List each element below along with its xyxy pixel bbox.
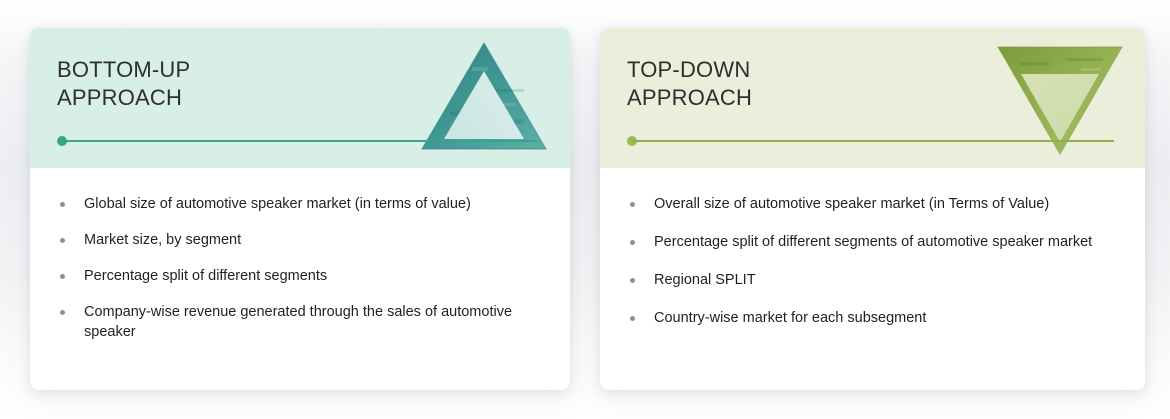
bullet-dot-icon bbox=[630, 316, 635, 321]
list-item: Market size, by segment bbox=[56, 230, 544, 250]
list-item-label: Percentage split of different segments o… bbox=[654, 234, 1092, 250]
list-item: Global size of automotive speaker market… bbox=[56, 194, 544, 214]
page-title-bottom-up: BOTTOM-UP APPROACH bbox=[57, 56, 190, 112]
bullet-dot-icon bbox=[60, 202, 65, 207]
card-bottom-up-approach: BOTTOM-UP APPROACH bbox=[30, 28, 570, 390]
bullet-dot-icon bbox=[630, 240, 635, 245]
list-item: Company-wise revenue generated through t… bbox=[56, 302, 544, 342]
card-header-top-down: TOP-DOWN APPROACH bbox=[600, 28, 1145, 168]
accent-line bbox=[62, 140, 537, 142]
list-item-label: Country-wise market for each subsegment bbox=[654, 310, 926, 326]
page-title-top-down: TOP-DOWN APPROACH bbox=[627, 56, 752, 112]
list-item-label: Global size of automotive speaker market… bbox=[84, 196, 471, 212]
page-background: BOTTOM-UP APPROACH bbox=[0, 0, 1170, 419]
bullet-list-bottom-up: Global size of automotive speaker market… bbox=[56, 194, 544, 342]
list-item: Overall size of automotive speaker marke… bbox=[626, 194, 1119, 214]
list-item: Percentage split of different segments bbox=[56, 266, 544, 286]
list-item: Percentage split of different segments o… bbox=[626, 232, 1119, 252]
bullet-dot-icon bbox=[60, 238, 65, 243]
list-item-label: Regional SPLIT bbox=[654, 272, 756, 288]
bullet-dot-icon bbox=[630, 202, 635, 207]
list-item-label: Overall size of automotive speaker marke… bbox=[654, 196, 1049, 212]
bullet-dot-icon bbox=[60, 274, 65, 279]
card-header-bottom-up: BOTTOM-UP APPROACH bbox=[30, 28, 570, 168]
list-item-label: Market size, by segment bbox=[84, 232, 241, 248]
triangle-up-icon bbox=[420, 41, 548, 151]
list-item: Country-wise market for each subsegment bbox=[626, 308, 1119, 328]
list-item: Regional SPLIT bbox=[626, 270, 1119, 290]
list-item-label: Company-wise revenue generated through t… bbox=[84, 304, 512, 340]
list-item-label: Percentage split of different segments bbox=[84, 268, 327, 284]
bullet-dot-icon bbox=[630, 278, 635, 283]
accent-rule-bottom-up bbox=[57, 136, 537, 146]
card-body-bottom-up: Global size of automotive speaker market… bbox=[30, 168, 570, 342]
accent-line bbox=[632, 140, 1114, 142]
accent-rule-top-down bbox=[627, 136, 1114, 146]
card-top-down-approach: TOP-DOWN APPROACH bbox=[600, 28, 1145, 390]
card-body-top-down: Overall size of automotive speaker marke… bbox=[600, 168, 1145, 328]
bullet-list-top-down: Overall size of automotive speaker marke… bbox=[626, 194, 1119, 328]
bullet-dot-icon bbox=[60, 310, 65, 315]
